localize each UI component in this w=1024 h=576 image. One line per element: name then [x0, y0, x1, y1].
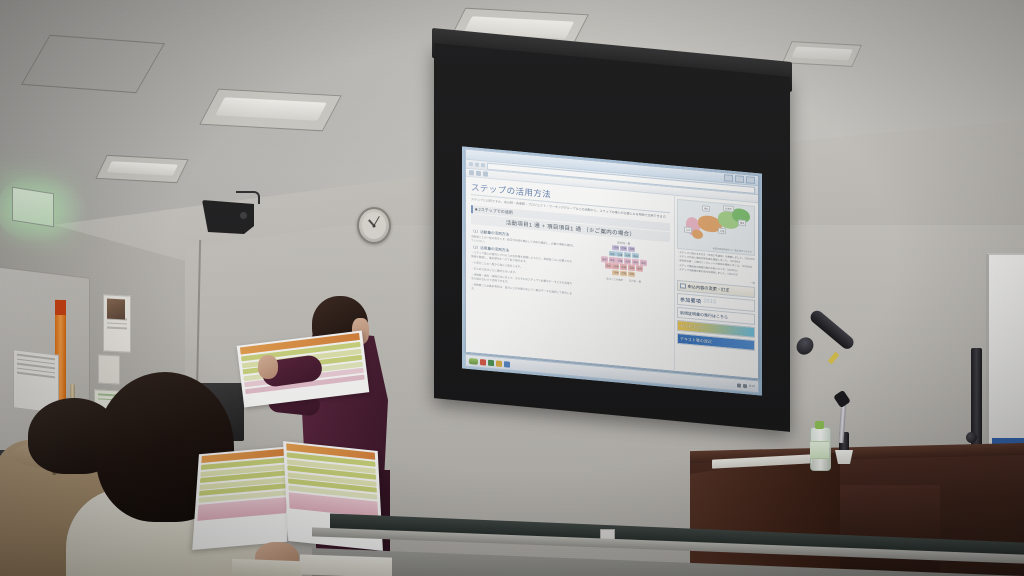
- grid-cell: 活用: [628, 271, 635, 277]
- brochure-left-page: [192, 446, 294, 550]
- volume-icon[interactable]: [737, 383, 741, 387]
- back-icon[interactable]: [469, 162, 473, 166]
- minimize-icon[interactable]: [724, 174, 733, 182]
- grid-cell: 活用: [616, 251, 623, 257]
- content-two-column: （1）活動量の活用方法 活動量ごとの一覧の表示です。各区分の値を集計して内訳を確…: [471, 227, 670, 311]
- banner-label: ガイドブック: [680, 323, 704, 331]
- wall-poster-small: [98, 354, 120, 384]
- folder-icon[interactable]: [496, 360, 502, 367]
- paper-cup: [835, 450, 853, 464]
- taskbar-clock[interactable]: 11:10: [749, 384, 755, 388]
- grid-footer-right: 区分別・量: [629, 279, 641, 284]
- ceiling-light-fixture-3: [95, 155, 189, 183]
- maximize-icon[interactable]: [735, 175, 744, 183]
- grid-cell: 活用: [620, 264, 627, 270]
- poster-line: [107, 322, 127, 325]
- projector-lens-icon: [240, 212, 247, 219]
- grid-cell: 活用: [628, 265, 635, 271]
- mail-icon[interactable]: [488, 359, 494, 366]
- grid-footer-left: 区分ごとの集計: [606, 276, 623, 282]
- grid-cell: 活用: [620, 245, 627, 251]
- grid-cell: 活用: [624, 252, 631, 258]
- banner-label: 申込内容の変更・訂正: [688, 283, 730, 293]
- checkbox-icon: [680, 283, 686, 289]
- grid-cell: 活用: [632, 259, 639, 265]
- grid-cell: 活用: [609, 250, 616, 256]
- start-button[interactable]: [469, 357, 478, 364]
- poster-line: [107, 326, 127, 329]
- grid-cell: 活用: [628, 246, 635, 252]
- japan-map-graphic[interactable]: 東北 北海道 関東 近畿 九州 全国の都道府県から一覧を表示できます: [677, 199, 755, 256]
- projection-screen-surface: ステップの活用方法 ステップとは何ですか。各分野・各業務・プロジェクト・ワーキン…: [462, 146, 762, 395]
- grid-cell: 活用: [609, 257, 616, 263]
- stand-adjust-knob[interactable]: [966, 432, 977, 443]
- map-tag[interactable]: 近畿: [718, 228, 726, 235]
- banner-label: テキスト等の改正: [680, 336, 712, 345]
- projected-desktop: ステップの活用方法 ステップとは何ですか。各分野・各業務・プロジェクト・ワーキン…: [462, 146, 762, 395]
- map-tag[interactable]: 関東: [738, 219, 746, 226]
- banner-label: 参加要項: [680, 296, 701, 305]
- web-page-content: ステップの活用方法 ステップとは何ですか。各分野・各業務・プロジェクト・ワーキン…: [466, 177, 758, 379]
- table-papers: [232, 559, 302, 576]
- ceiling-light-fixture-5: [782, 41, 862, 67]
- favorites-icon[interactable]: [476, 171, 481, 176]
- map-caption: 全国の都道府県から一覧を表示できます: [713, 246, 752, 254]
- grid-footer: 区分ごとの集計 区分別・量: [606, 276, 641, 283]
- grid-cell: 活用: [612, 245, 619, 251]
- presenter-hand: [258, 355, 278, 379]
- forward-icon[interactable]: [475, 163, 479, 167]
- home-icon[interactable]: [469, 170, 474, 175]
- map-tag[interactable]: 東北: [702, 205, 710, 212]
- grid-row: 活用 活用 活用: [612, 270, 635, 278]
- network-icon[interactable]: [743, 383, 747, 387]
- fluorescent-tube: [791, 47, 853, 60]
- projector-mount-arm: [236, 191, 260, 204]
- grid-cell: 活用: [601, 256, 608, 262]
- grid-cell: 活用: [612, 263, 619, 269]
- fluorescent-tube: [215, 98, 326, 121]
- emergency-exit-light: [12, 187, 54, 228]
- ceiling-light-fixture-2: [199, 89, 342, 132]
- water-bottle-label: [810, 441, 829, 459]
- seminar-room-photo: ステップの活用方法 ステップとは何ですか。各分野・各業務・プロジェクト・ワーキン…: [0, 0, 1024, 576]
- browser-window[interactable]: ステップの活用方法 ステップとは何ですか。各分野・各業務・プロジェクト・ワーキン…: [465, 149, 759, 380]
- wall-clock: [357, 207, 391, 244]
- grid-cell: 活用: [640, 260, 647, 266]
- document-icon[interactable]: [504, 361, 510, 368]
- grid-cell: 活用: [624, 258, 631, 264]
- grid-cell: 活用: [620, 270, 627, 276]
- content-right-column: 区分別・量 活用 活用 活用 活用 活用 活用: [577, 236, 670, 311]
- orange-pole-tip: [55, 300, 66, 315]
- browser-icon[interactable]: [480, 358, 486, 365]
- map-region-south: [692, 229, 703, 239]
- grid-cell: 活用: [612, 270, 619, 276]
- whiteboard: [986, 253, 1024, 469]
- page-main-column: ステップの活用方法 ステップとは何ですか。各分野・各業務・プロジェクト・ワーキン…: [466, 177, 674, 371]
- grid-cell: 活用: [616, 257, 623, 263]
- poster-photograph: [107, 299, 125, 320]
- grid-cell: 活用: [636, 266, 643, 272]
- table-handout: [300, 554, 392, 576]
- banner-label: 新規証明書の発行はこちら: [680, 310, 728, 320]
- map-tag[interactable]: 九州: [684, 227, 692, 234]
- close-icon[interactable]: [746, 176, 755, 184]
- banner-year: 2015: [703, 298, 716, 305]
- content-left-column: （1）活動量の活用方法 活動量ごとの一覧の表示です。各区分の値を集計して内訳を確…: [471, 227, 574, 303]
- clock-center-pin: [373, 224, 376, 227]
- print-icon[interactable]: [483, 171, 488, 176]
- fluorescent-tube: [106, 161, 179, 176]
- reload-icon[interactable]: [481, 163, 485, 167]
- map-tag[interactable]: 北海道: [723, 205, 734, 212]
- page-sidebar: 東北 北海道 関東 近畿 九州 全国の都道府県から一覧を表示できます ・ステップ…: [674, 196, 758, 379]
- grid-cell: 活用: [605, 263, 612, 269]
- grid-cell: 活用: [632, 253, 639, 259]
- water-bottle-cap: [815, 421, 824, 429]
